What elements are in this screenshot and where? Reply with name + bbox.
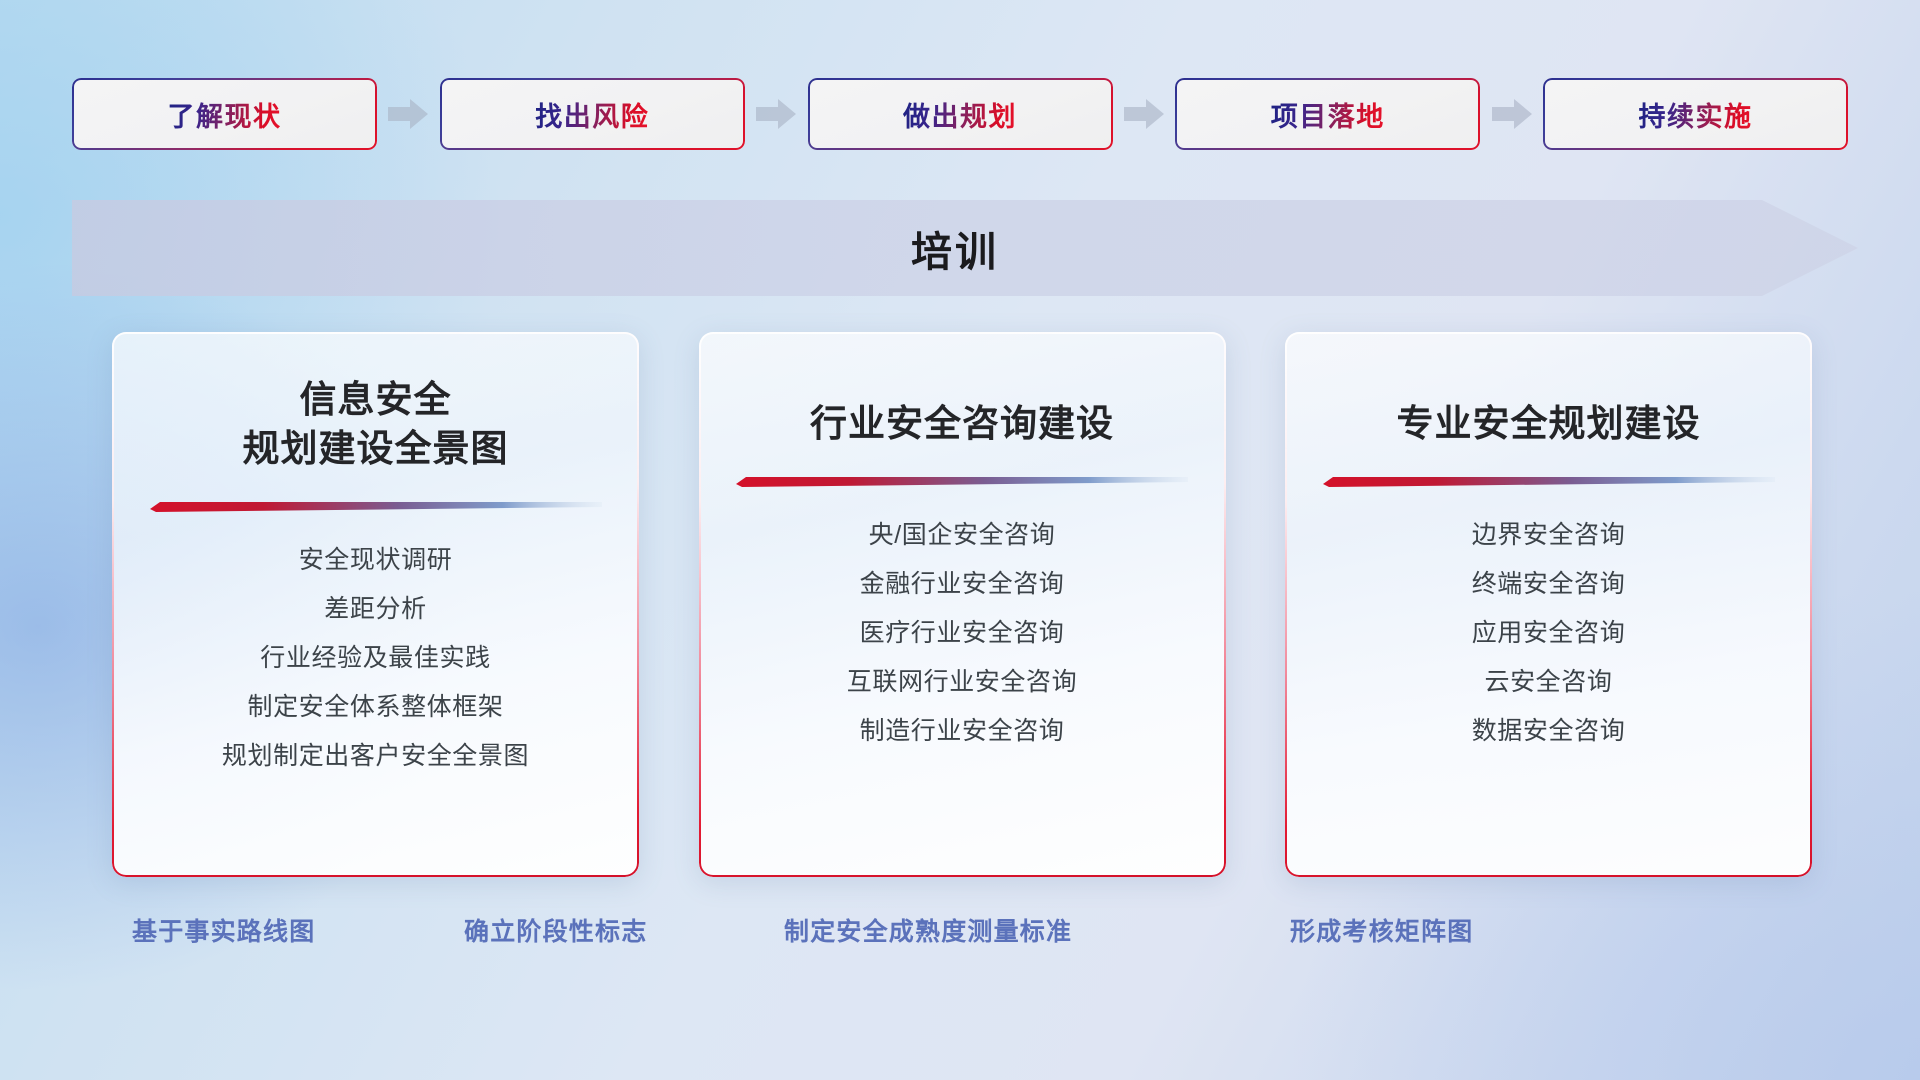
caption-label: 制定安全成熟度测量标准 (784, 912, 1072, 948)
list-item: 制造行业安全咨询 (860, 716, 1065, 746)
flow-step-label: 项目落地 (1271, 95, 1385, 134)
process-flow-row: 了解现状 找出风险 做出规划 项目落地 (72, 78, 1848, 150)
caption-label: 确立阶段性标志 (464, 912, 647, 948)
training-banner: 培训 (72, 200, 1858, 296)
arrow-right-icon (756, 97, 796, 131)
flow-step-3[interactable]: 做出规划 (808, 78, 1113, 150)
arrow-right-icon (388, 97, 428, 131)
list-item: 云安全咨询 (1484, 667, 1612, 697)
list-item: 应用安全咨询 (1472, 618, 1626, 648)
flow-step-label: 持续实施 (1639, 95, 1753, 134)
card-title: 信息安全 规划建设全景图 (243, 376, 509, 474)
flow-step-label: 做出规划 (903, 95, 1017, 134)
arrow-right-icon (1124, 97, 1164, 131)
caption-label: 形成考核矩阵图 (1290, 912, 1473, 948)
list-item: 规划制定出客户安全全景图 (222, 741, 529, 771)
list-item: 终端安全咨询 (1472, 569, 1626, 599)
card-item-list: 央/国企安全咨询 金融行业安全咨询 医疗行业安全咨询 互联网行业安全咨询 制造行… (725, 520, 1200, 746)
flow-step-2[interactable]: 找出风险 (440, 78, 745, 150)
flow-step-4[interactable]: 项目落地 (1175, 78, 1480, 150)
card-item-list: 安全现状调研 差距分析 行业经验及最佳实践 制定安全体系整体框架 规划制定出客户… (138, 545, 613, 771)
list-item: 医疗行业安全咨询 (860, 618, 1065, 648)
caption-label: 基于事实路线图 (132, 912, 315, 948)
list-item: 互联网行业安全咨询 (847, 667, 1077, 697)
flow-step-label: 找出风险 (535, 95, 649, 134)
card-title: 行业安全咨询建设 (810, 400, 1114, 449)
caption-row: 基于事实路线图 确立阶段性标志 制定安全成熟度测量标准 形成考核矩阵图 (0, 912, 1920, 962)
arrow-right-icon (1492, 97, 1532, 131)
list-item: 数据安全咨询 (1472, 716, 1626, 746)
list-item: 安全现状调研 (299, 545, 453, 575)
list-item: 边界安全咨询 (1472, 520, 1626, 550)
flow-step-label: 了解现状 (168, 95, 282, 134)
flow-step-5[interactable]: 持续实施 (1543, 78, 1848, 150)
card-item-list: 边界安全咨询 终端安全咨询 应用安全咨询 云安全咨询 数据安全咨询 (1311, 520, 1786, 746)
flow-step-1[interactable]: 了解现状 (72, 78, 377, 150)
card-information-security-blueprint[interactable]: 信息安全 规划建设全景图 (112, 332, 639, 877)
cards-row: 信息安全 规划建设全景图 (112, 332, 1812, 877)
list-item: 行业经验及最佳实践 (260, 643, 490, 673)
tapered-divider-icon (1323, 475, 1775, 488)
list-item: 央/国企安全咨询 (869, 520, 1056, 550)
tapered-divider-icon (150, 500, 602, 513)
card-title: 专业安全规划建设 (1397, 400, 1701, 449)
list-item: 制定安全体系整体框架 (247, 692, 503, 722)
card-professional-security-planning[interactable]: 专业安全规划建设 (1285, 332, 1812, 877)
card-industry-security-consulting[interactable]: 行业安全咨询建设 (699, 332, 1226, 877)
list-item: 金融行业安全咨询 (860, 569, 1065, 599)
list-item: 差距分析 (324, 594, 426, 624)
tapered-divider-icon (736, 475, 1188, 488)
slide-canvas: 了解现状 找出风险 做出规划 项目落地 (0, 0, 1920, 1080)
banner-title: 培训 (72, 200, 1858, 296)
